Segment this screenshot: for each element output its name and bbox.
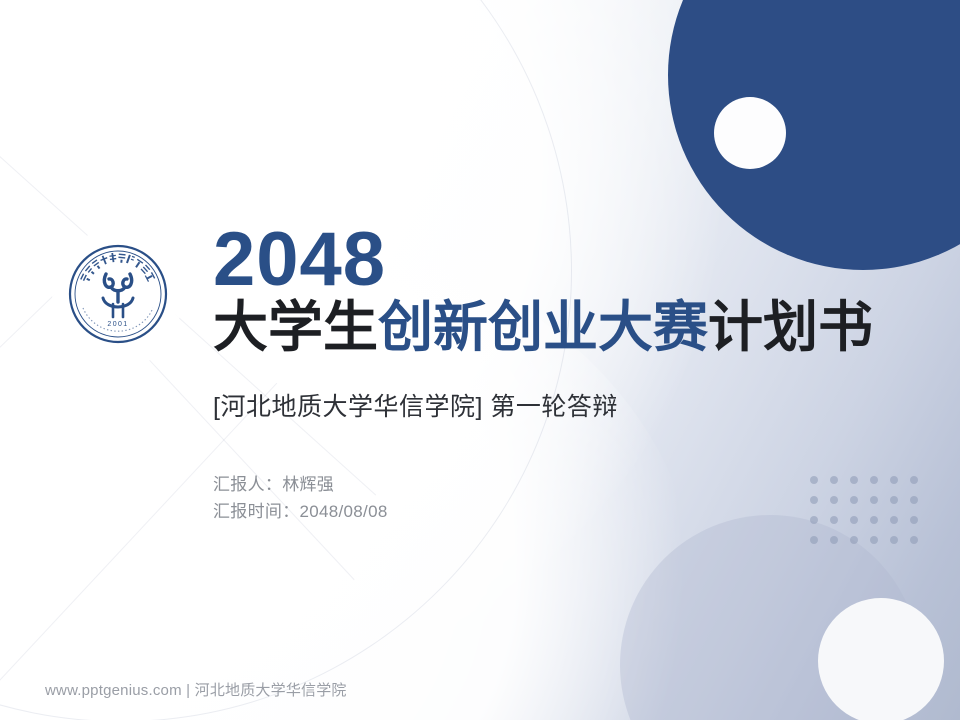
white-circle-decoration-top <box>714 97 786 169</box>
seal-founded-year: 2001 <box>107 321 128 328</box>
footer-text: www.pptgenius.com | 河北地质大学华信学院 <box>45 679 347 700</box>
title-part-3: 计划书 <box>708 296 873 358</box>
meta-block: 汇报人：林辉强 汇报时间：2048/08/08 <box>213 471 913 526</box>
presenter-line: 汇报人：林辉强 <box>213 471 913 499</box>
date-line: 汇报时间：2048/08/08 <box>213 498 913 526</box>
title-part-2: 创新创业大赛 <box>378 296 708 358</box>
university-logo: 2001 <box>52 228 184 360</box>
page-title: 大学生创新创业大赛计划书 <box>213 299 913 356</box>
presentation-slide: 2001 2048 大学生创新创业大赛计划书 [河北地质大学华信学院] 第一轮答… <box>0 0 960 720</box>
subtitle: [河北地质大学华信学院] 第一轮答辩 <box>213 387 913 423</box>
title-block: 2048 大学生创新创业大赛计划书 [河北地质大学华信学院] 第一轮答辩 汇报人… <box>213 224 913 526</box>
university-seal-icon: 2001 <box>66 242 170 346</box>
year-heading: 2048 <box>213 224 913 295</box>
white-circle-decoration-bottom <box>818 598 944 720</box>
title-part-1: 大学生 <box>213 296 378 358</box>
